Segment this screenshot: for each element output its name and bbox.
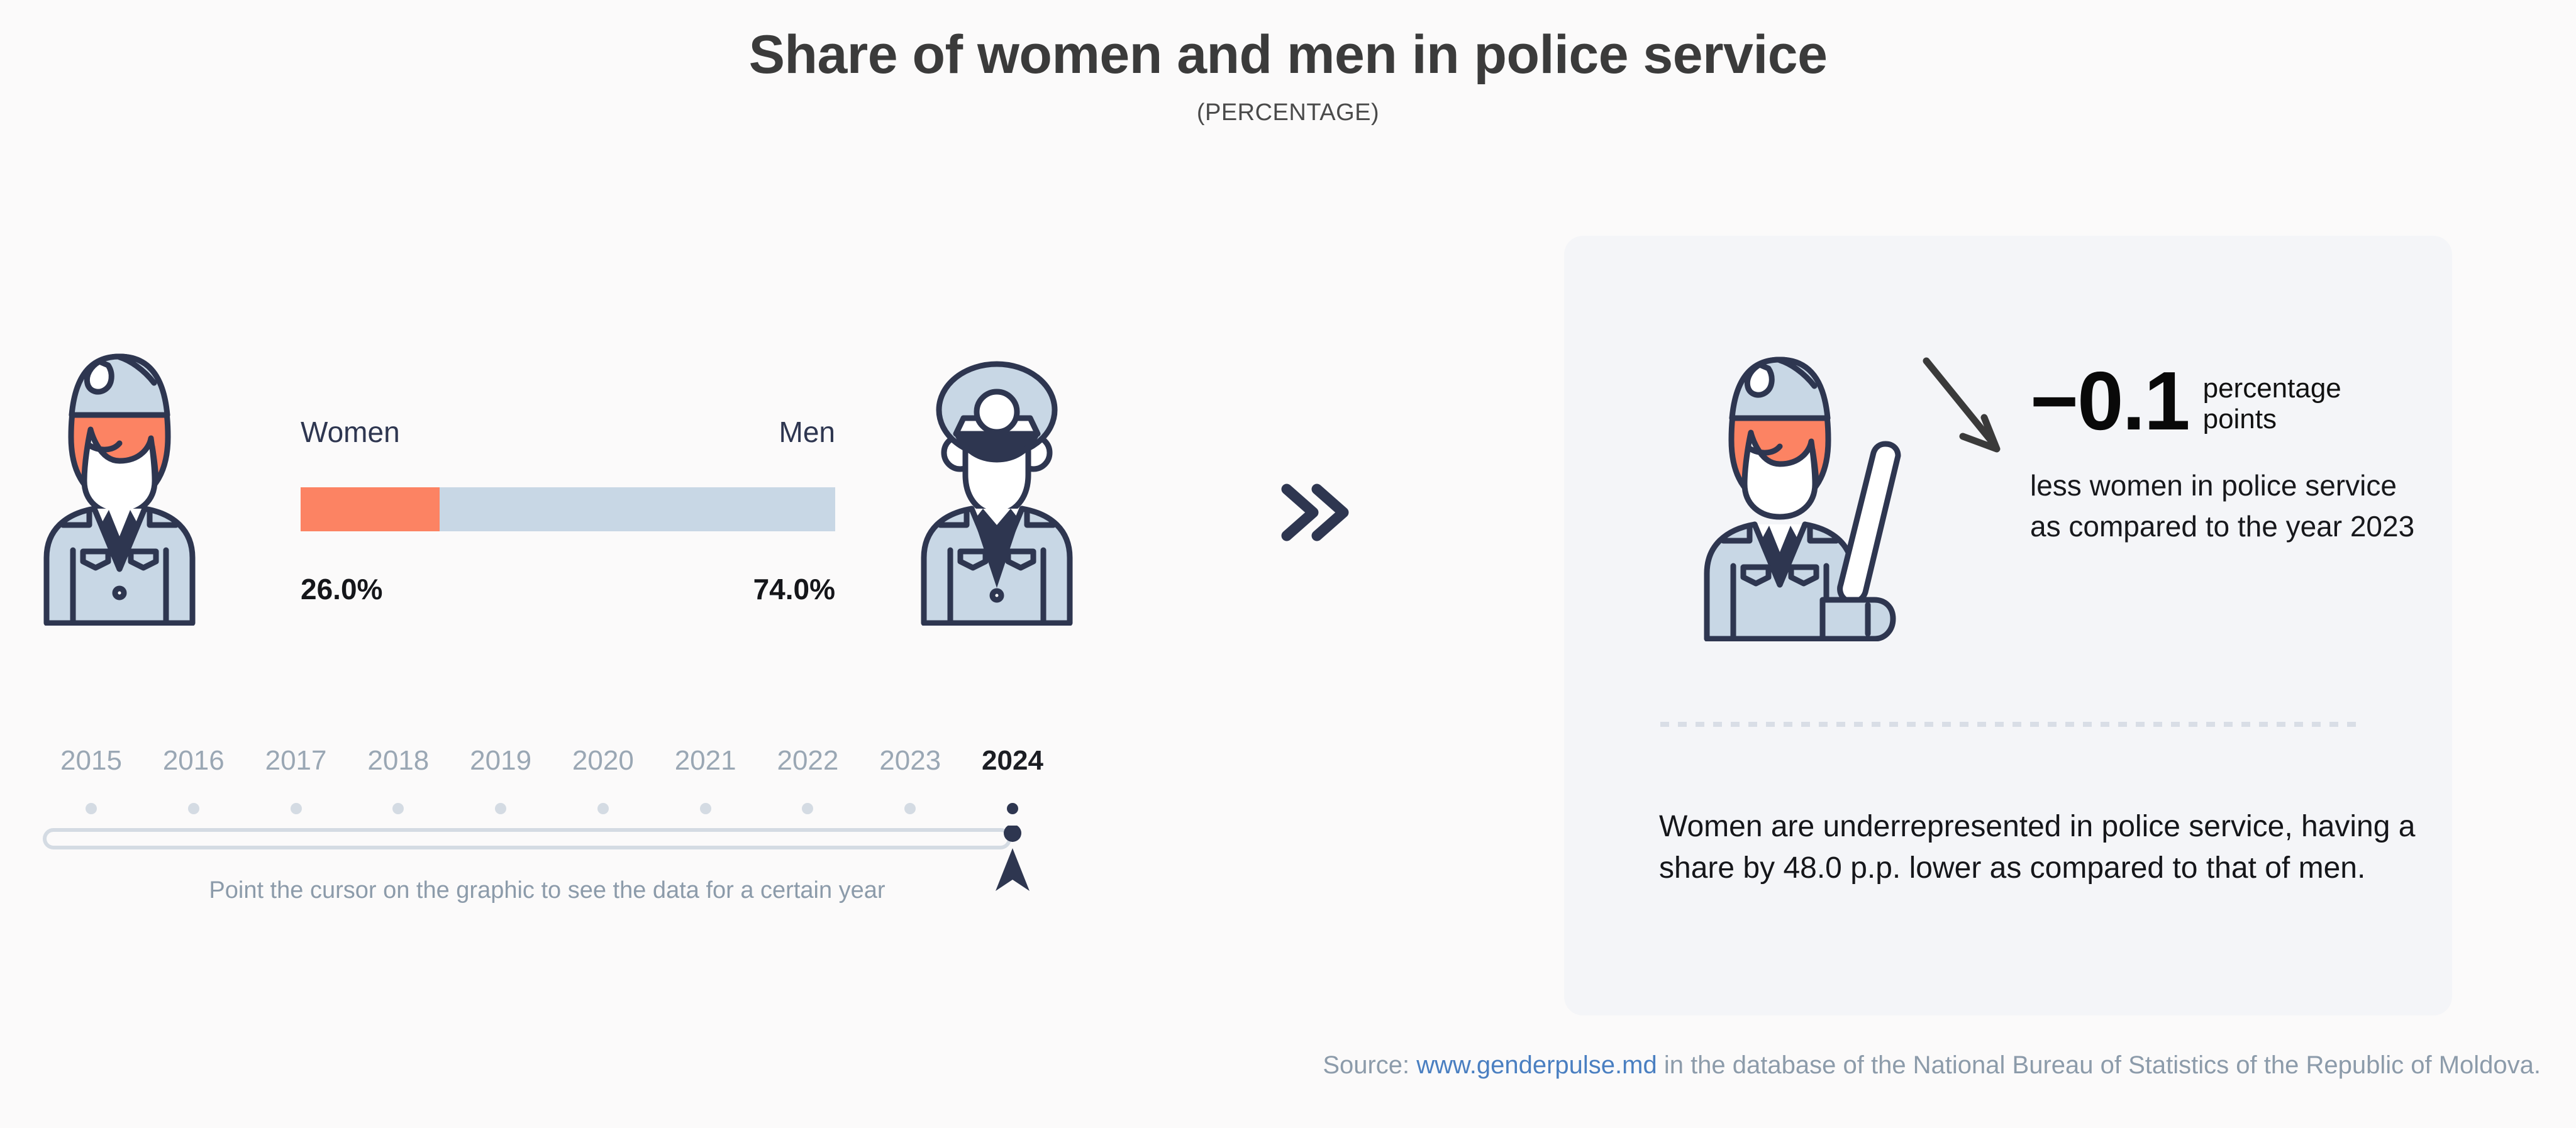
delta-value: −0.1 [2030,362,2189,440]
year-label-2018[interactable]: 2018 [367,745,429,777]
year-tick-2018[interactable] [392,803,404,814]
year-label-row[interactable]: 2015201620172018201920202021202220232024 [69,745,1025,789]
year-label-2015[interactable]: 2015 [60,745,122,777]
panel-summary-text: Women are underrepresented in police ser… [1659,806,2451,889]
double-chevron-right-icon [1277,478,1352,550]
year-tick-2021[interactable] [700,803,711,814]
bar-value-men: 74.0% [753,572,835,606]
year-label-2023[interactable]: 2023 [879,745,941,777]
woman-police-officer-with-baton-icon [1685,321,1924,641]
source-prefix: Source: [1323,1051,1416,1079]
year-label-2017[interactable]: 2017 [265,745,327,777]
bar-label-women: Women [301,415,400,449]
man-police-officer-icon [902,318,1091,626]
year-tick-2015[interactable] [86,803,97,814]
year-tick-2019[interactable] [495,803,506,814]
bar-value-row: 26.0% 74.0% [301,572,835,610]
year-tick-2017[interactable] [291,803,302,814]
year-label-2019[interactable]: 2019 [470,745,531,777]
bar-chart-labels: Women Men [301,415,835,453]
year-label-2016[interactable]: 2016 [163,745,225,777]
timeline-track[interactable] [43,828,1011,849]
year-tick-row[interactable] [69,803,1025,818]
year-label-2021[interactable]: 2021 [675,745,736,777]
year-tick-2022[interactable] [802,803,813,814]
bar-segment-women[interactable] [301,487,440,531]
bar-label-men: Men [779,415,835,449]
year-label-2020[interactable]: 2020 [572,745,634,777]
delta-description: less women in police service as compared… [2030,465,2433,548]
page-title: Share of women and men in police service [0,26,2576,83]
year-timeline[interactable]: 2015201620172018201920202021202220232024 [69,745,1025,896]
year-label-2024[interactable]: 2024 [982,745,1043,777]
stacked-bar[interactable] [301,487,835,531]
source-link[interactable]: www.genderpulse.md [1416,1051,1657,1079]
timeline-hint: Point the cursor on the graphic to see t… [69,877,1025,904]
year-tick-2023[interactable] [904,803,916,814]
year-tick-2024[interactable] [1007,803,1018,814]
source-suffix: in the database of the National Bureau o… [1657,1051,2541,1079]
delta-unit-label: percentage points [2203,373,2341,435]
infographic-root: Share of women and men in police service… [0,0,2576,1128]
panel-divider [1660,722,2365,727]
delta-row: −0.1 percentage points [2030,362,2341,440]
year-label-2022[interactable]: 2022 [777,745,838,777]
year-tick-2020[interactable] [597,803,609,814]
bar-value-women: 26.0% [301,572,382,606]
down-right-arrow-icon [1909,347,2019,467]
page-subtitle: (PERCENTAGE) [0,99,2576,126]
year-tick-2016[interactable] [188,803,199,814]
source-note: Source: www.genderpulse.md in the databa… [0,1051,2541,1080]
woman-police-officer-icon [25,318,214,626]
